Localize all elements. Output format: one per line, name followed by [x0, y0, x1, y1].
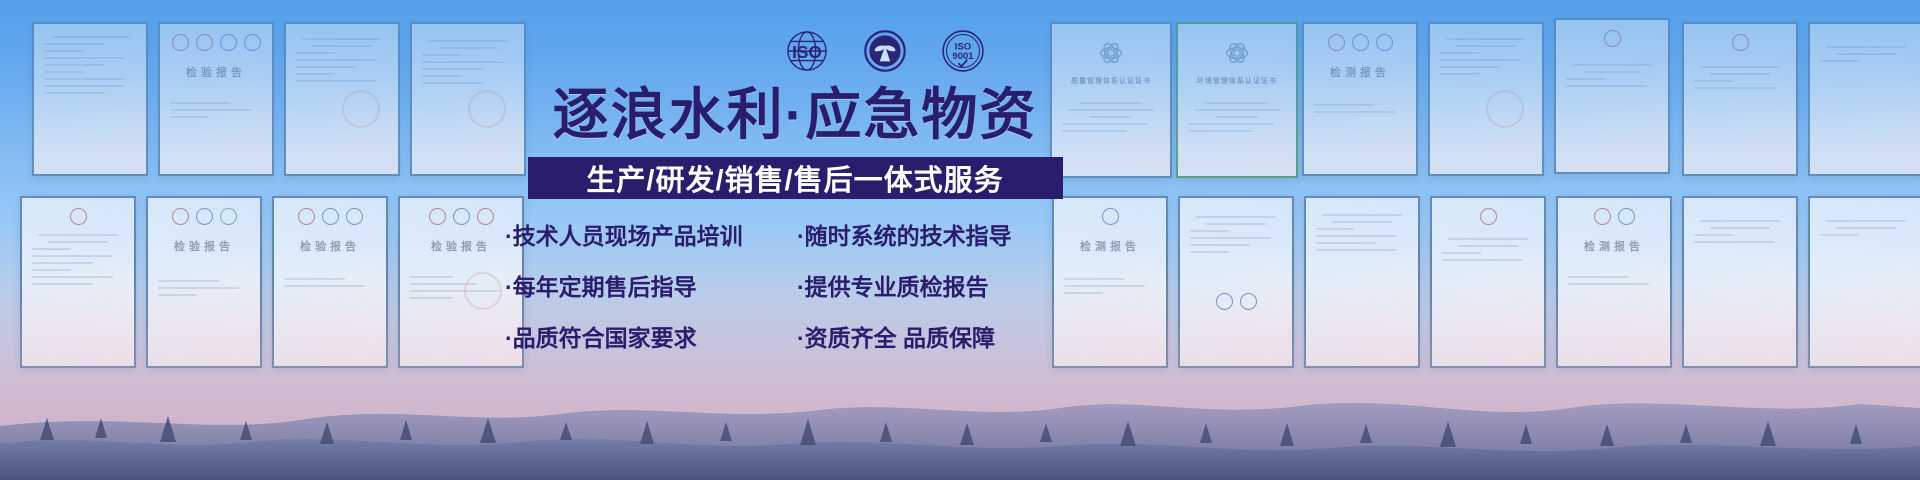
cqc-logo-icon	[1732, 34, 1749, 51]
cert-title: 检验报告	[158, 238, 250, 254]
cert-title: 检验报告	[170, 64, 262, 80]
feature-item: ·提供专业质检报告	[797, 268, 1059, 302]
lab-logo-icon	[244, 34, 261, 51]
cnas-logo-icon	[1618, 208, 1635, 225]
cert-title: 检验报告	[284, 238, 376, 254]
svg-text:ISO: ISO	[792, 42, 822, 62]
cnas-logo-icon	[1352, 34, 1369, 51]
lab-logo-icon	[346, 208, 363, 225]
certificate-thumb: 检测报告	[1302, 22, 1418, 176]
ccc-logo-icon	[70, 208, 87, 225]
certificate-thumb: 检验报告	[272, 196, 388, 368]
cert-title: 检验报告	[410, 238, 512, 254]
promo-banner: 检验报告	[0, 0, 1920, 480]
cert-seal-icon	[342, 90, 380, 128]
feature-row: ·技术人员现场产品培训 ·随时系统的技术指导	[505, 217, 1085, 251]
cnas-logo-icon	[196, 208, 213, 225]
feature-item: ·技术人员现场产品培训	[505, 217, 797, 251]
cnas-logo-icon	[322, 208, 339, 225]
certificate-thumb	[1682, 22, 1798, 176]
banner-content: ISO ISO 9001 逐浪水利·应急物资 生产/研发/销售/售后一体式服务	[505, 20, 1085, 460]
certificate-thumb	[1682, 196, 1798, 368]
certificate-thumb: 检验报告	[158, 22, 274, 176]
certificate-thumb: 检测报告	[1556, 196, 1672, 368]
ccc-logo-icon	[298, 208, 315, 225]
certification-badge-row: ISO ISO 9001	[685, 20, 1085, 82]
certificate-thumb	[284, 22, 400, 176]
cqc-logo-icon	[1604, 30, 1621, 47]
ccc-logo-icon	[1594, 208, 1611, 225]
feature-item: ·随时系统的技术指导	[797, 217, 1059, 251]
lab-logo-icon	[1376, 34, 1393, 51]
certificate-thumb	[1808, 22, 1920, 176]
a-mark-logo-icon	[477, 208, 494, 225]
ccc-logo-icon	[1480, 208, 1497, 225]
iaf-logo-icon	[1102, 208, 1119, 225]
page-title: 逐浪水利·应急物资	[505, 86, 1085, 145]
cert-seal-icon	[464, 272, 502, 310]
quality-atom-icon	[1098, 40, 1124, 66]
certificate-thumb: 检验报告	[146, 196, 262, 368]
svg-text:9001: 9001	[952, 51, 974, 62]
certificate-thumb	[1178, 196, 1294, 368]
green-mark-icon	[220, 208, 237, 225]
certificate-thumb	[1428, 22, 1544, 176]
service-scope-bar: 生产/研发/销售/售后一体式服务	[528, 157, 1063, 199]
cert-title: 检测报告	[1314, 64, 1406, 80]
iaf-logo-icon	[1240, 293, 1257, 310]
certificate-thumb	[32, 22, 148, 176]
ccc-logo-icon	[429, 208, 446, 225]
cnas-logo-icon	[453, 208, 470, 225]
environment-atom-icon	[1224, 40, 1250, 66]
feature-item: ·每年定期售后指导	[505, 268, 797, 302]
certificate-thumb	[1554, 18, 1670, 174]
certificate-thumb	[1304, 196, 1420, 368]
certificate-thumb	[1808, 196, 1920, 368]
a-mark-logo-icon	[196, 34, 213, 51]
iso9001-cqc-badge-icon: ISO 9001	[937, 25, 989, 77]
cert-title: 检测报告	[1568, 238, 1660, 254]
feature-row: ·每年定期售后指导 ·提供专业质检报告	[505, 268, 1085, 302]
feature-list: ·技术人员现场产品培训 ·随时系统的技术指导 ·每年定期售后指导 ·提供专业质检…	[505, 217, 1085, 353]
certificate-thumb-environmental: 环境管理体系认证证书	[1176, 22, 1298, 178]
feature-row: ·品质符合国家要求 ·资质齐全 品质保障	[505, 319, 1085, 353]
cnas-logo-icon	[220, 34, 237, 51]
cert-logo-row	[170, 34, 262, 50]
cert-title: 环境管理体系认证证书	[1188, 76, 1286, 86]
certificate-thumb	[20, 196, 136, 368]
ccc-logo-icon	[1328, 34, 1345, 51]
ccc-logo-icon	[172, 34, 189, 51]
feature-item: ·资质齐全 品质保障	[797, 319, 1059, 353]
cnas-logo-icon	[1216, 293, 1233, 310]
iso-globe-badge-icon: ISO	[781, 25, 833, 77]
certificate-thumb	[1430, 196, 1546, 368]
iso14000-environment-badge-icon	[859, 25, 911, 77]
ccc-logo-icon	[172, 208, 189, 225]
feature-item: ·品质符合国家要求	[505, 319, 797, 353]
cert-seal-icon	[1486, 90, 1524, 128]
cert-seal-icon	[468, 90, 506, 128]
